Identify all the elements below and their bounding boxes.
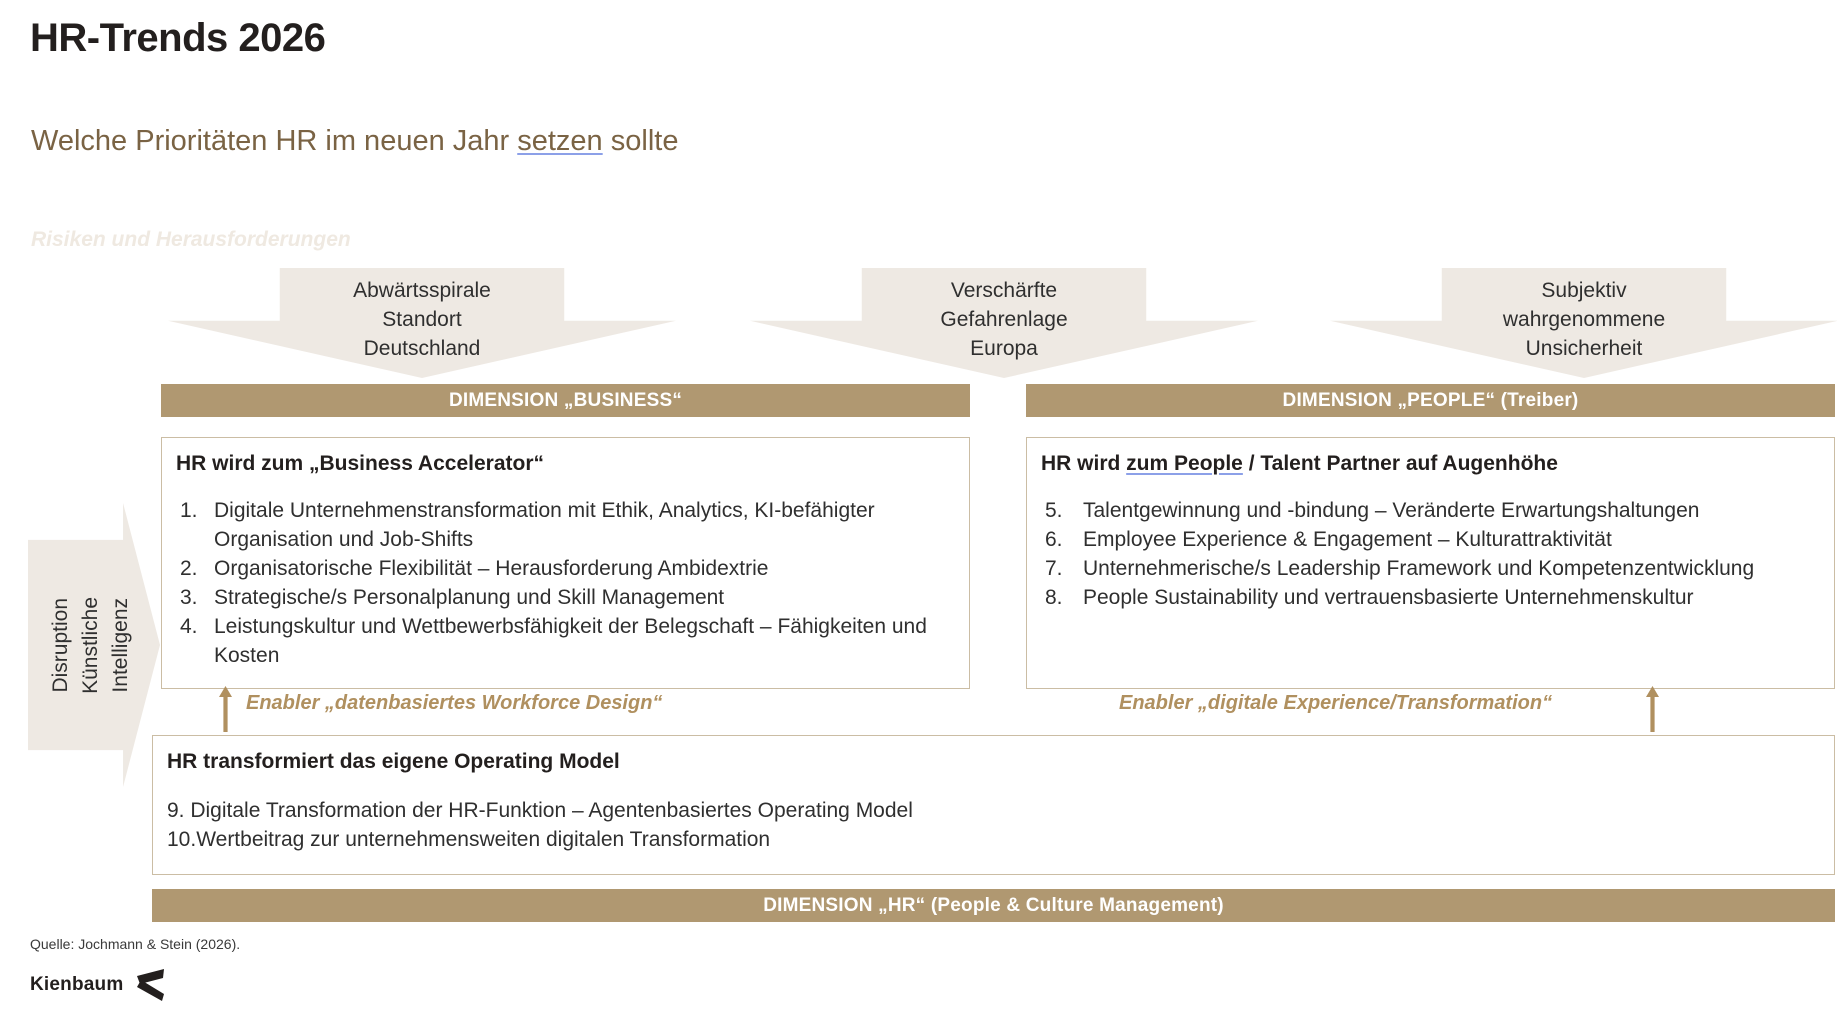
- risk-arrow-label: Abwärtsspirale Standort Deutschland: [168, 276, 676, 363]
- list-item-number: 5.: [1045, 496, 1075, 525]
- hr-content-box: HR transformiert das eigene Operating Mo…: [152, 735, 1835, 875]
- side-arrow-line-3: Intelligenz: [106, 598, 136, 693]
- list-item: 1. Digitale Unternehmenstransformation m…: [214, 496, 955, 554]
- list-item: 7. Unternehmerische/s Leadership Framewo…: [1083, 554, 1830, 583]
- list-item-number: 1.: [180, 496, 210, 525]
- kienbaum-logo: Kienbaum: [30, 968, 165, 1002]
- risk-arrow-europe-threat: Verschärfte Gefahrenlage Europa: [750, 268, 1258, 378]
- business-content-box: HR wird zum „Business Accelerator“ 1. Di…: [161, 437, 970, 689]
- people-heading-spellchecked: zum People: [1126, 452, 1243, 475]
- risk-arrow-line-3: Europa: [750, 334, 1258, 363]
- subtitle-spellchecked-word: setzen: [517, 125, 602, 157]
- list-item-number: 2.: [180, 554, 210, 583]
- list-item: 2. Organisatorische Flexibilität – Herau…: [214, 554, 955, 583]
- subtitle-text-after: sollte: [603, 125, 679, 157]
- business-item-list: 1. Digitale Unternehmenstransformation m…: [162, 496, 969, 670]
- list-item-number: 3.: [180, 583, 210, 612]
- list-item: 6. Employee Experience & Engagement – Ku…: [1083, 525, 1830, 554]
- side-arrow-line-1: Disruption: [46, 598, 76, 693]
- list-item-number: 7.: [1045, 554, 1075, 583]
- list-item-text: Strategische/s Personalplanung und Skill…: [214, 586, 724, 609]
- people-heading-before: HR wird: [1041, 452, 1126, 475]
- business-heading: HR wird zum „Business Accelerator“: [162, 438, 969, 476]
- list-item-text: Leistungskultur und Wettbewerbsfähigkeit…: [214, 615, 927, 667]
- list-item-text: Unternehmerische/s Leadership Framework …: [1083, 557, 1754, 580]
- risk-arrow-line-3: Unsicherheit: [1330, 334, 1837, 363]
- risk-arrow-perceived-uncertainty: Subjektiv wahrgenommene Unsicherheit: [1330, 268, 1837, 378]
- people-heading: HR wird zum People / Talent Partner auf …: [1027, 438, 1834, 476]
- side-arrow-label: Disruption Künstliche Intelligenz: [28, 503, 160, 787]
- risk-arrow-line-1: Abwärtsspirale: [168, 276, 676, 305]
- source-note: Quelle: Jochmann & Stein (2026).: [30, 936, 240, 952]
- risk-arrow-line-1: Subjektiv: [1330, 276, 1837, 305]
- list-item-text: Organisatorische Flexibilität – Herausfo…: [214, 557, 768, 580]
- enabler-up-arrow-left: [219, 686, 232, 732]
- page-subtitle: Welche Prioritäten HR im neuen Jahr setz…: [31, 125, 678, 158]
- list-item-number: 6.: [1045, 525, 1075, 554]
- people-item-list: 5. Talentgewinnung und -bindung – Veränd…: [1027, 496, 1834, 612]
- risk-arrow-label: Verschärfte Gefahrenlage Europa: [750, 276, 1258, 363]
- page-title: HR-Trends 2026: [30, 16, 325, 61]
- enabler-label-workforce-design: Enabler „datenbasiertes Workforce Design…: [246, 692, 662, 715]
- hr-item-list: 9. Digitale Transformation der HR-Funkti…: [153, 796, 1834, 854]
- risks-section-label: Risiken und Herausforderungen: [31, 228, 351, 252]
- side-arrow-disruption-ai: Disruption Künstliche Intelligenz: [28, 503, 160, 787]
- people-content-box: HR wird zum People / Talent Partner auf …: [1026, 437, 1835, 689]
- enabler-label-digital-experience: Enabler „digitale Experience/Transformat…: [1119, 692, 1552, 715]
- dimension-bar-people: DIMENSION „PEOPLE“ (Treiber): [1026, 384, 1835, 417]
- list-item: 8. People Sustainability und vertrauensb…: [1083, 583, 1830, 612]
- people-heading-after: / Talent Partner auf Augenhöhe: [1243, 452, 1558, 475]
- list-item: 9. Digitale Transformation der HR-Funkti…: [167, 796, 1820, 825]
- dimension-bar-business: DIMENSION „BUSINESS“: [161, 384, 970, 417]
- brand-wordmark: Kienbaum: [30, 974, 123, 996]
- risk-arrow-line-3: Deutschland: [168, 334, 676, 363]
- kienbaum-chevron-icon: [135, 968, 165, 1002]
- dimension-bar-hr: DIMENSION „HR“ (People & Culture Managem…: [152, 889, 1835, 922]
- list-item-text: Employee Experience & Engagement – Kultu…: [1083, 528, 1612, 551]
- hr-heading: HR transformiert das eigene Operating Mo…: [153, 736, 1834, 774]
- list-item-text: People Sustainability und vertrauensbasi…: [1083, 586, 1694, 609]
- list-item: 4. Leistungskultur und Wettbewerbsfähigk…: [214, 612, 955, 670]
- risk-arrow-label: Subjektiv wahrgenommene Unsicherheit: [1330, 276, 1837, 363]
- subtitle-text-before: Welche Prioritäten HR im neuen Jahr: [31, 125, 517, 157]
- list-item-number: 8.: [1045, 583, 1075, 612]
- list-item: 3. Strategische/s Personalplanung und Sk…: [214, 583, 955, 612]
- list-item-number: 4.: [180, 612, 210, 641]
- risk-arrow-line-2: Gefahrenlage: [750, 305, 1258, 334]
- risk-arrow-line-2: Standort: [168, 305, 676, 334]
- list-item-text: Talentgewinnung und -bindung – Verändert…: [1083, 499, 1699, 522]
- risk-arrow-line-1: Verschärfte: [750, 276, 1258, 305]
- risk-arrow-line-2: wahrgenommene: [1330, 305, 1837, 334]
- risk-arrow-downwards-spiral: Abwärtsspirale Standort Deutschland: [168, 268, 676, 378]
- list-item-text: Digitale Unternehmenstransformation mit …: [214, 499, 875, 551]
- enabler-up-arrow-right: [1646, 686, 1659, 732]
- list-item: 10.Wertbeitrag zur unternehmensweiten di…: [167, 825, 1820, 854]
- list-item: 5. Talentgewinnung und -bindung – Veränd…: [1083, 496, 1830, 525]
- side-arrow-line-2: Künstliche: [76, 597, 106, 694]
